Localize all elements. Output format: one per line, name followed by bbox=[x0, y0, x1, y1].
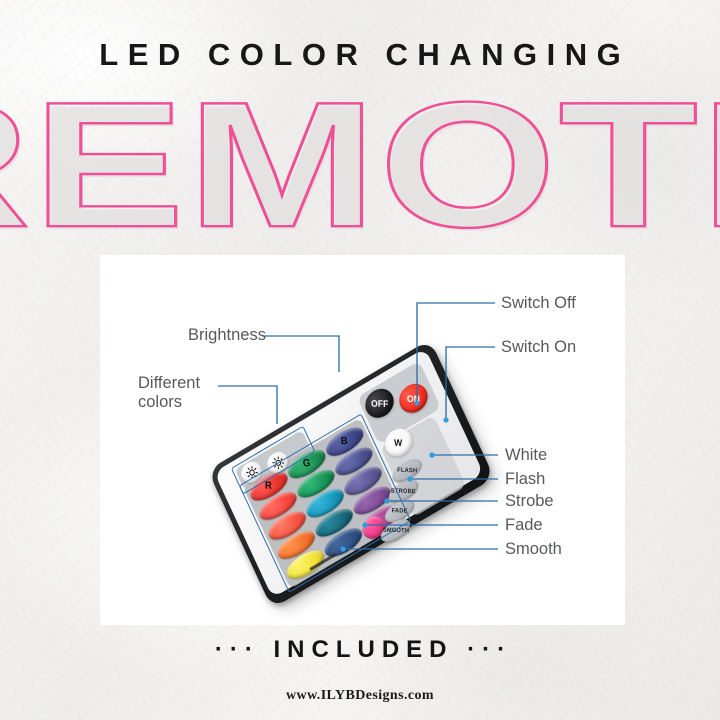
annotation-different-colors: Different colors bbox=[138, 374, 243, 413]
off-button-label: OFF bbox=[371, 398, 388, 409]
footer-website-url: www.ILYBDesigns.com bbox=[0, 688, 720, 704]
flash-button-label: FLASH bbox=[397, 467, 417, 474]
remote-outline-heading: REMOTE bbox=[0, 76, 720, 255]
annotation-switch-off: Switch Off bbox=[501, 294, 576, 313]
annotation-white: White bbox=[505, 446, 547, 465]
annotation-switch-on: Switch On bbox=[501, 338, 576, 357]
annotation-flash: Flash bbox=[505, 470, 545, 489]
on-button-label: ON bbox=[407, 393, 420, 404]
annotation-strobe: Strobe bbox=[505, 492, 554, 511]
white-button-label: W bbox=[394, 437, 402, 448]
annotation-brightness: Brightness bbox=[188, 326, 266, 345]
annotation-smooth: Smooth bbox=[505, 540, 562, 559]
annotation-fade: Fade bbox=[505, 516, 543, 535]
remote-outline-heading-wrap: REMOTE bbox=[0, 70, 720, 260]
included-banner: ··· INCLUDED ··· bbox=[0, 636, 720, 664]
